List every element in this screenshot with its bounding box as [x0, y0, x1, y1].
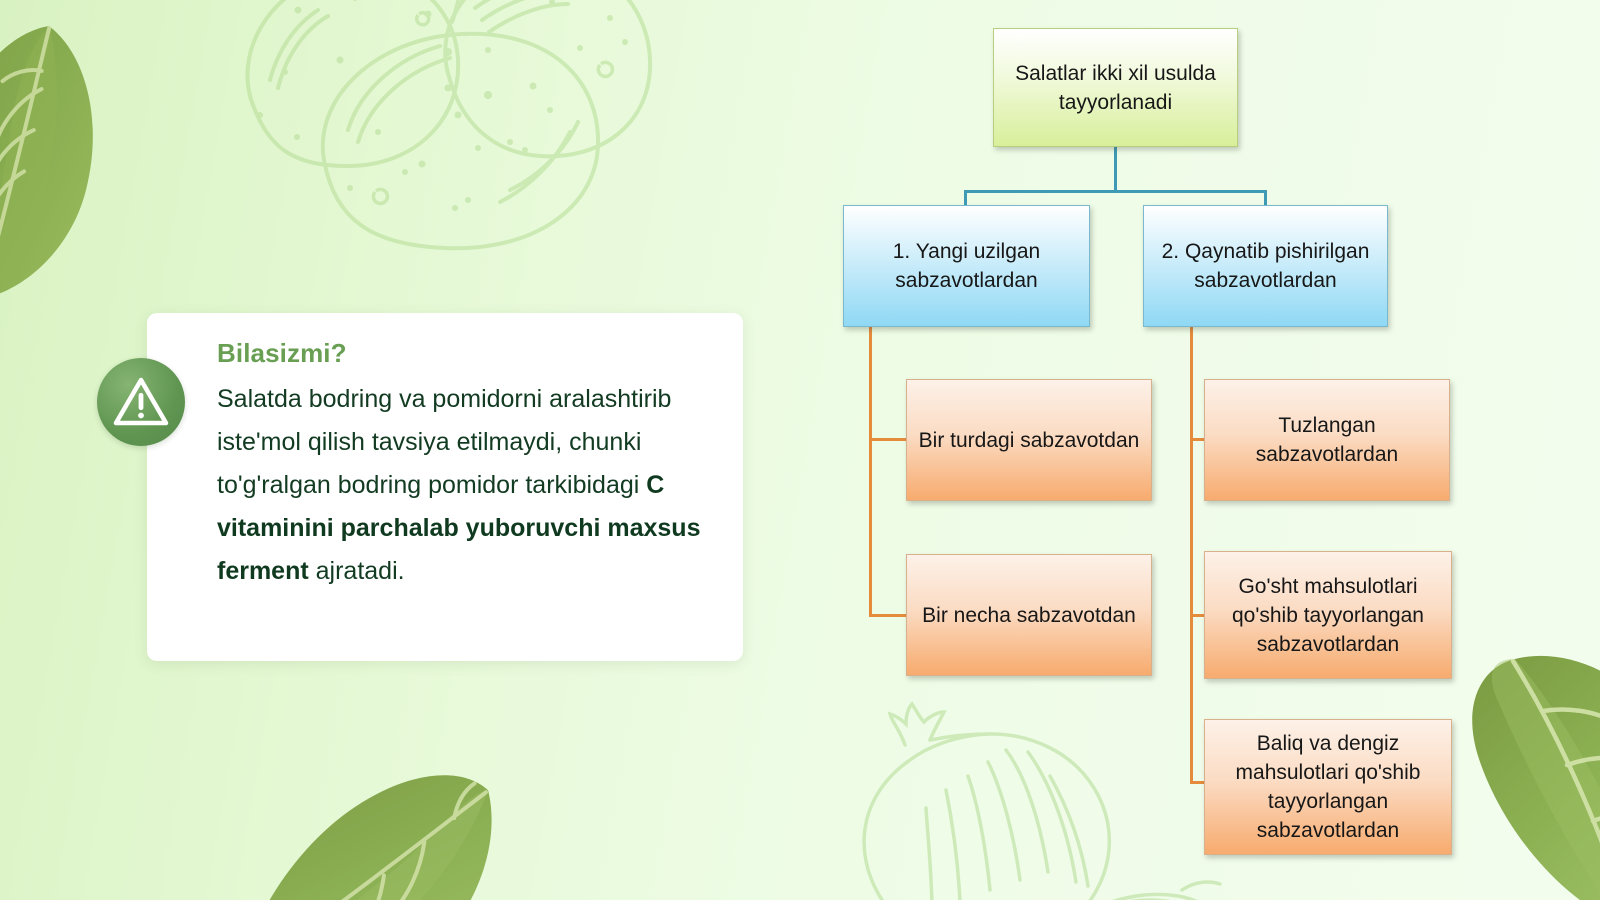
node-branch-2-child-1[interactable]: Tuzlangan sabzavotlardan: [1204, 379, 1450, 501]
connector-branch-1-to-child-1: [869, 438, 909, 441]
connector-root-stem: [1114, 146, 1117, 192]
node-branch-1-child-2[interactable]: Bir necha sabzavotdan: [906, 554, 1152, 676]
node-root[interactable]: Salatlar ikki xil usulda tayyorlanadi: [993, 28, 1238, 147]
node-branch-2[interactable]: 2. Qaynatib pishirilgan sabzavotlardan: [1143, 205, 1388, 327]
flow-diagram: Salatlar ikki xil usulda tayyorlanadi 1.…: [0, 0, 1600, 900]
slide-canvas: Bilasizmi? Salatda bodring va pomidorni …: [0, 0, 1600, 900]
node-branch-1[interactable]: 1. Yangi uzilgan sabzavotlardan: [843, 205, 1090, 327]
connector-root-bus: [964, 190, 1267, 193]
node-branch-1-child-1[interactable]: Bir turdagi sabzavotdan: [906, 379, 1152, 501]
node-branch-2-child-3[interactable]: Baliq va dengiz mahsulotlari qo'shib tay…: [1204, 719, 1452, 855]
connector-branch-1-spine: [869, 327, 872, 617]
connector-branch-1-to-child-2: [869, 614, 909, 617]
node-branch-2-child-2[interactable]: Go'sht mahsulotlari qo'shib tayyorlangan…: [1204, 551, 1452, 679]
connector-branch-2-spine: [1190, 327, 1193, 784]
